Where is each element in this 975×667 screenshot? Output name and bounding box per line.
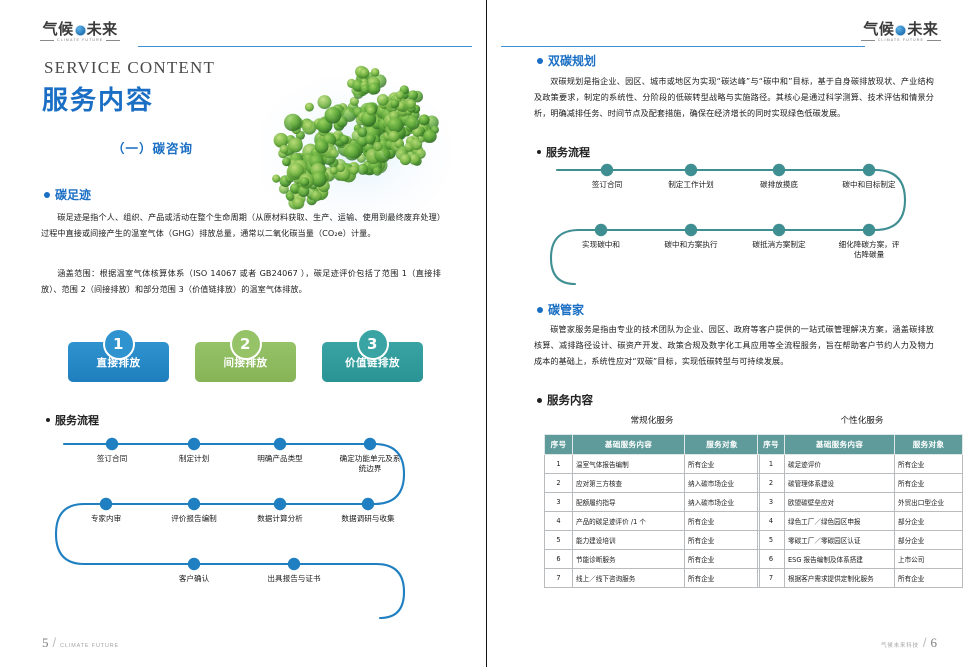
heading-service-content-label: 服务内容 [547, 392, 593, 408]
flow-left-node-8[interactable] [362, 498, 374, 510]
header-rule-left [138, 46, 472, 47]
heading-service-flow-right: 服务流程 [537, 144, 590, 160]
table-cell: 上市公司 [895, 550, 963, 569]
table-header-row: 序号基础服务内容服务对象 [758, 435, 963, 455]
footer-right: 气候未来科技 / 6 [881, 635, 937, 651]
bullet-dot-icon [44, 192, 50, 198]
page-number-right: 6 [931, 635, 938, 651]
section-title: （一）碳咨询 [112, 138, 193, 157]
table-cell: 配额履约指导 [573, 493, 685, 512]
flow-right-label-5: 实现碳中和 [582, 240, 620, 250]
table-cell: 根据客户需求提供定制化服务 [785, 569, 895, 588]
scope-badge-3: 3 [357, 328, 389, 360]
table-row: 3配额履约指导纳入碳市场企业 [545, 493, 760, 512]
heading-dual-carbon-planning: 双碳规划 [537, 52, 596, 69]
table-cell: 所有企业 [685, 455, 760, 474]
paragraph-dual-carbon-planning: 双碳规划是指企业、园区、城市或地区为实现“碳达峰”与“碳中和”目标，基于自身碳排… [534, 74, 934, 121]
column-header-1: 基础服务内容 [573, 435, 685, 455]
page-left: 气候 未来 CLIMATE FUTURE SERVICE CONTENT 服务内… [0, 0, 487, 667]
table-cell: 外贸出口型企业 [895, 493, 963, 512]
bullet-dot-icon [537, 398, 542, 403]
paragraph-footprint-1: 碳足迹是指个人、组织、产品或活动在整个生命周期（从原材料获取、生产、运输、使用到… [41, 210, 441, 242]
flow-left-label-5: 专家内审 [91, 514, 121, 524]
flow-right-label-4: 碳中和目标制定 [842, 180, 895, 190]
flow-left-node-9[interactable] [188, 558, 200, 570]
scope-box-2[interactable]: 2 间接排放 [195, 342, 296, 382]
table-row: 1温室气体报告编制所有企业 [545, 455, 760, 474]
bullet-dot-icon [537, 150, 541, 154]
flow-right-label-7: 碳抵消方案制定 [752, 240, 805, 250]
heading-service-flow-left-label: 服务流程 [55, 412, 99, 428]
table-row: 7根据客户需求提供定制化服务所有企业 [758, 569, 963, 588]
table-cell: 温室气体报告编制 [573, 455, 685, 474]
footer-slash: / [53, 635, 57, 650]
footer-slash: / [923, 635, 927, 650]
flow-right-node-3[interactable] [773, 164, 785, 176]
flow-right-node-5[interactable] [595, 224, 607, 236]
table-row: 4绿色工厂／绿色园区申报部分企业 [758, 512, 963, 531]
flow-right-node-7[interactable] [773, 224, 785, 236]
table-cell: 应对第三方核查 [573, 474, 685, 493]
table-cell: 6 [545, 550, 573, 569]
flow-right-label-8: 细化降碳方案，评估降碳量 [836, 240, 902, 261]
table-row: 1碳足迹评价所有企业 [758, 455, 963, 474]
scope-badge-2: 2 [230, 328, 262, 360]
column-header-2: 服务对象 [895, 435, 963, 455]
header-rule-right [501, 46, 865, 47]
table-cell: 碳足迹评价 [785, 455, 895, 474]
flow-right-label-2: 制定工作计划 [668, 180, 714, 190]
paragraph-carbon-steward: 碳管家服务是指由专业的技术团队为企业、园区、政府等客户提供的一站式碳管理解决方案… [534, 322, 934, 369]
table-cell: 产品的碳足迹评价 /1 个 [573, 512, 685, 531]
table-row: 7线上／线下咨询服务所有企业 [545, 569, 760, 588]
heading-carbon-steward-label: 碳管家 [548, 301, 584, 318]
table-cell: 3 [758, 493, 785, 512]
table-caption-custom: 个性化服务 [841, 414, 884, 426]
table-cell: 2 [545, 474, 573, 493]
heading-carbon-footprint: 碳足迹 [44, 186, 91, 203]
table-cell: 所有企业 [685, 569, 760, 588]
table-cell: 零碳工厂／零碳园区认证 [785, 531, 895, 550]
logo-text-cn: 气候 [43, 22, 74, 37]
flow-left-label-8: 数据调研与收集 [341, 514, 394, 524]
table-custom-services: 序号基础服务内容服务对象 1碳足迹评价所有企业2碳管理体系建设所有企业3欧盟碳壁… [757, 434, 963, 588]
heading-service-flow-right-label: 服务流程 [546, 144, 590, 160]
table-cell: 5 [758, 531, 785, 550]
flow-right-label-1: 签订合同 [592, 180, 622, 190]
column-header-0: 序号 [758, 435, 785, 455]
logo-rule-right [106, 40, 120, 41]
brand-logo-left: 气候 未来 CLIMATE FUTURE [40, 22, 120, 43]
flow-left-node-2[interactable] [188, 438, 200, 450]
emission-scope-boxes: 1 直接排放 2 间接排放 3 价值链排放 [68, 326, 418, 382]
logo-rule-right [927, 40, 941, 41]
flow-left-label-2: 制定计划 [179, 454, 209, 464]
globe-icon [75, 25, 86, 36]
logo-text-en: CLIMATE FUTURE [878, 39, 924, 43]
table-cell: 所有企业 [685, 512, 760, 531]
table-cell: 4 [545, 512, 573, 531]
table-cell: 2 [758, 474, 785, 493]
heading-dual-carbon-planning-label: 双碳规划 [548, 52, 596, 69]
flow-right-node-2[interactable] [685, 164, 697, 176]
bullet-dot-icon [537, 307, 543, 313]
heading-carbon-footprint-label: 碳足迹 [55, 186, 91, 203]
flow-right-label-3: 碳排放摸底 [760, 180, 798, 190]
flow-left-node-10[interactable] [288, 558, 300, 570]
table-cell: 部分企业 [895, 512, 963, 531]
table-row: 5零碳工厂／零碳园区认证部分企业 [758, 531, 963, 550]
table-row: 6节能诊断服务所有企业 [545, 550, 760, 569]
flow-left-label-10: 出具报告与证书 [267, 574, 320, 584]
table-cell: 绿色工厂／绿色园区申报 [785, 512, 895, 531]
paragraph-footprint-2: 涵盖范围：根据温室气体核算体系（ISO 14067 或者 GB24067 ），碳… [41, 266, 441, 298]
table-row: 4产品的碳足迹评价 /1 个所有企业 [545, 512, 760, 531]
page-title-cn: 服务内容 [42, 80, 154, 117]
scope-badge-1: 1 [103, 328, 135, 360]
page-number-left: 5 [42, 635, 49, 651]
page-title-en: SERVICE CONTENT [44, 58, 215, 78]
footer-left: 5 / CLIMATE FUTURE [42, 635, 119, 651]
table-caption-standard: 常规化服务 [631, 414, 674, 426]
flow-left-label-1: 签订合同 [97, 454, 127, 464]
flow-left-label-4: 确定功能单元及系统边界 [337, 454, 403, 475]
bullet-dot-icon [46, 418, 50, 422]
logo-rule-left [40, 40, 54, 41]
table-cell: 节能诊断服务 [573, 550, 685, 569]
table-row: 2碳管理体系建设所有企业 [758, 474, 963, 493]
scope-box-3[interactable]: 3 价值链排放 [322, 342, 423, 382]
flow-right-node-6[interactable] [685, 224, 697, 236]
logo-text-cn2: 未来 [87, 22, 118, 37]
brand-logo-right: 气候 未来 CLIMATE FUTURE [861, 22, 941, 43]
table-cell: 部分企业 [895, 531, 963, 550]
service-flow-right: 签订合同制定工作计划碳排放摸底碳中和目标制定实现碳中和碳中和方案执行碳抵消方案制… [539, 162, 939, 292]
flow-left-label-3: 明确产品类型 [257, 454, 303, 464]
table-cell: 所有企业 [895, 455, 963, 474]
table-cell: 7 [758, 569, 785, 588]
flow-right-label-6: 碳中和方案执行 [664, 240, 717, 250]
logo-text-cn: 气候 [863, 22, 894, 37]
table-row: 3欧盟碳壁垒应对外贸出口型企业 [758, 493, 963, 512]
table-cell: 7 [545, 569, 573, 588]
table-cell: 4 [758, 512, 785, 531]
table-cell: 能力建设培训 [573, 531, 685, 550]
brochure-spread: 气候 未来 CLIMATE FUTURE SERVICE CONTENT 服务内… [0, 0, 975, 667]
table-cell: 纳入碳市场企业 [685, 493, 760, 512]
flow-left-node-6[interactable] [188, 498, 200, 510]
flow-right-node-8[interactable] [863, 224, 875, 236]
table-header-row: 序号基础服务内容服务对象 [545, 435, 760, 455]
flow-left-label-7: 数据计算分析 [257, 514, 303, 524]
heading-carbon-steward: 碳管家 [537, 301, 584, 318]
table-cell: 纳入碳市场企业 [685, 474, 760, 493]
logo-rule-left [861, 40, 875, 41]
table-cell: 所有企业 [895, 474, 963, 493]
logo-text-en: CLIMATE FUTURE [57, 39, 103, 43]
footer-brand-right: 气候未来科技 [881, 641, 919, 649]
globe-icon [895, 25, 906, 36]
table-cell: 欧盟碳壁垒应对 [785, 493, 895, 512]
table-cell: 所有企业 [685, 531, 760, 550]
table-cell: 3 [545, 493, 573, 512]
column-header-1: 基础服务内容 [785, 435, 895, 455]
table-row: 6ESG 报告编制及体系搭建上市公司 [758, 550, 963, 569]
table-cell: 碳管理体系建设 [785, 474, 895, 493]
table-standard-services: 序号基础服务内容服务对象 1温室气体报告编制所有企业2应对第三方核查纳入碳市场企… [544, 434, 760, 588]
flow-left-node-7[interactable] [274, 498, 286, 510]
heading-service-content: 服务内容 [537, 392, 593, 408]
table-cell: 所有企业 [685, 550, 760, 569]
table-cell: 所有企业 [895, 569, 963, 588]
flow-right-node-4[interactable] [863, 164, 875, 176]
table-cell: ESG 报告编制及体系搭建 [785, 550, 895, 569]
table-row: 2应对第三方核查纳入碳市场企业 [545, 474, 760, 493]
heading-service-flow-left: 服务流程 [46, 412, 99, 428]
flow-left-node-1[interactable] [106, 438, 118, 450]
column-header-0: 序号 [545, 435, 573, 455]
flow-left-label-9: 客户确认 [179, 574, 209, 584]
table-cell: 1 [545, 455, 573, 474]
bullet-dot-icon [537, 58, 543, 64]
table-cell: 5 [545, 531, 573, 550]
scope-box-1[interactable]: 1 直接排放 [68, 342, 169, 382]
column-header-2: 服务对象 [685, 435, 760, 455]
table-cell: 线上／线下咨询服务 [573, 569, 685, 588]
logo-text-cn2: 未来 [907, 22, 938, 37]
flow-right-node-1[interactable] [601, 164, 613, 176]
table-cell: 1 [758, 455, 785, 474]
footer-brand-left: CLIMATE FUTURE [60, 643, 119, 649]
table-row: 5能力建设培训所有企业 [545, 531, 760, 550]
flow-left-label-6: 评价报告编制 [171, 514, 217, 524]
flow-left-node-5[interactable] [100, 498, 112, 510]
flow-left-node-4[interactable] [364, 438, 376, 450]
service-flow-left: 签订合同制定计划明确产品类型确定功能单元及系统边界专家内审评价报告编制数据计算分… [44, 432, 444, 622]
page-right: 气候 未来 CLIMATE FUTURE 双碳规划 双碳规划是指企业、园区、城市… [487, 0, 975, 667]
table-cell: 6 [758, 550, 785, 569]
flow-left-node-3[interactable] [274, 438, 286, 450]
